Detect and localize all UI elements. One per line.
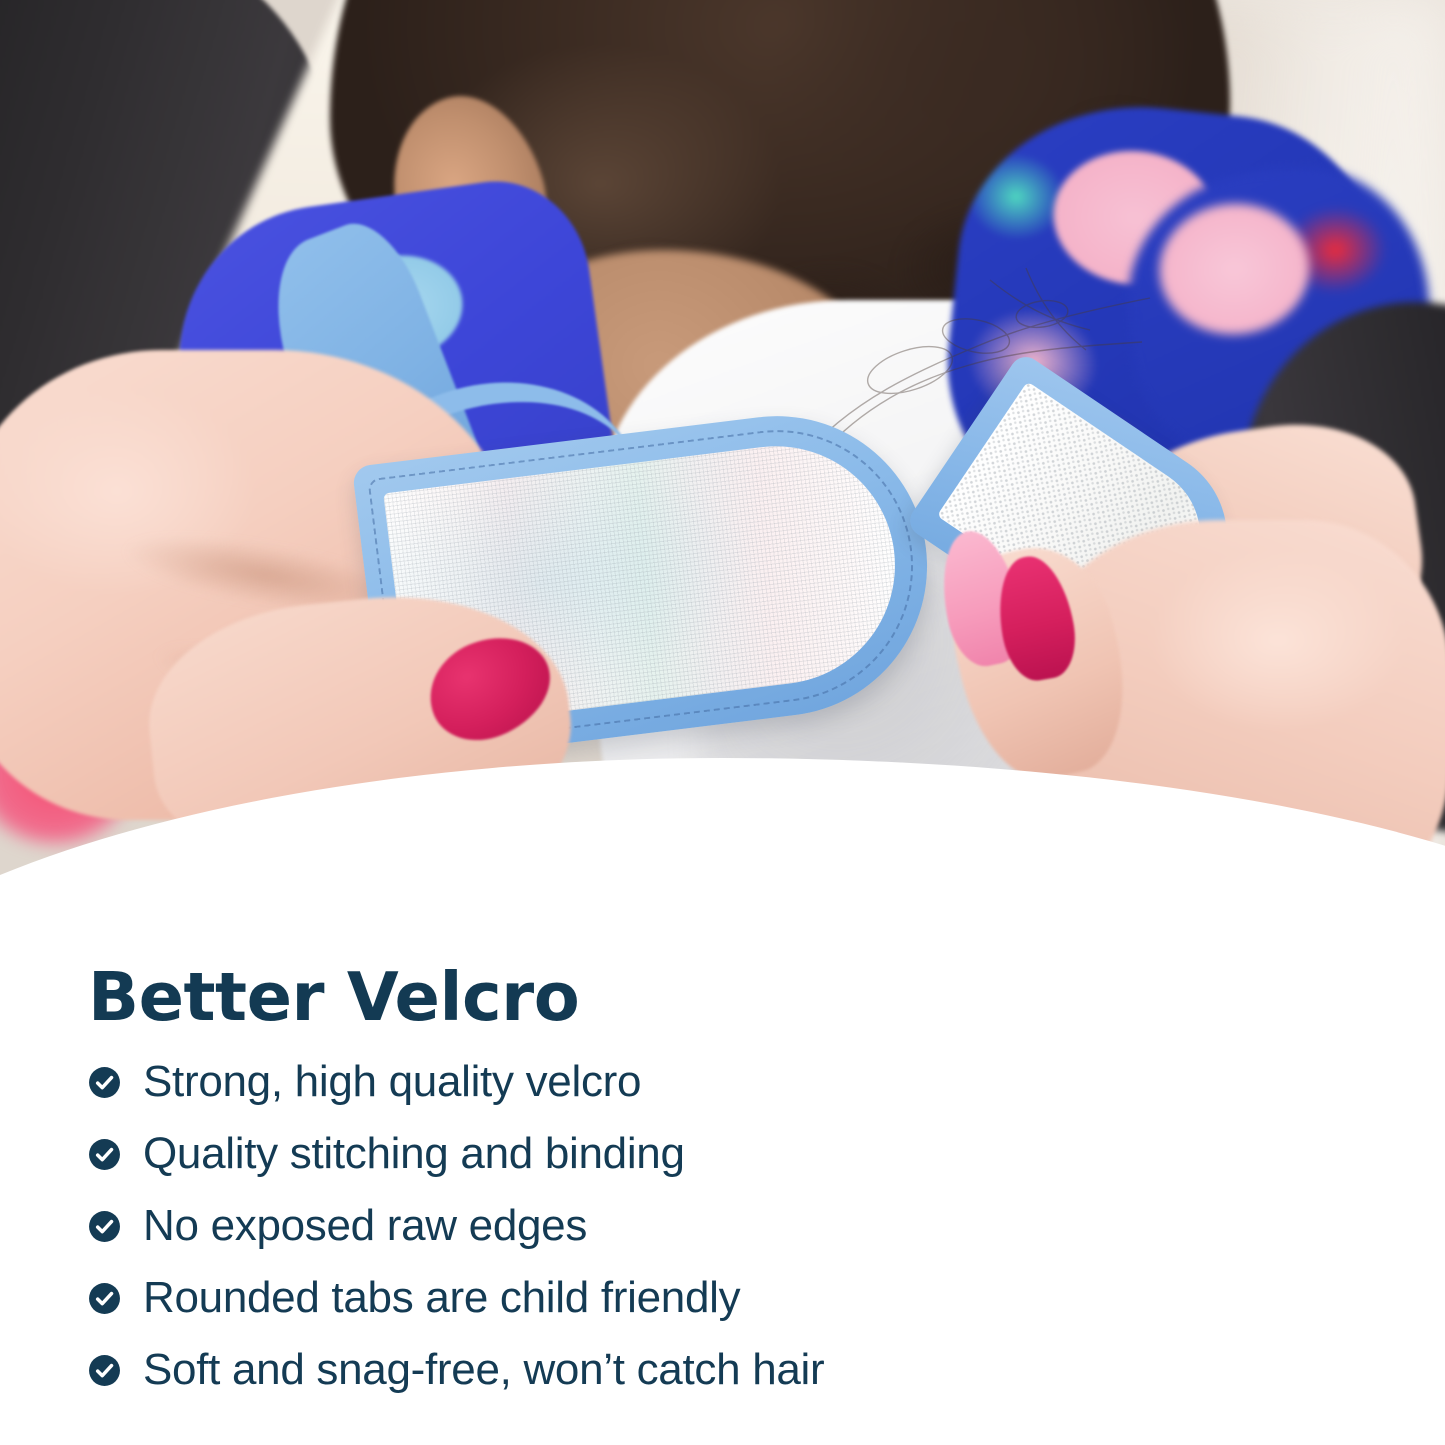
feature-content: Better Velcro Strong, high quality velcr… (88, 962, 1268, 1414)
product-feature-card: Better Velcro Strong, high quality velcr… (0, 0, 1445, 1445)
feature-label: No exposed raw edges (143, 1204, 587, 1248)
list-item: Strong, high quality velcro (88, 1054, 1268, 1110)
list-item: No exposed raw edges (88, 1198, 1268, 1254)
feature-list: Strong, high quality velcro Quality stit… (88, 1054, 1268, 1398)
feature-label: Soft and snag-free, won’t catch hair (143, 1348, 824, 1392)
feature-label: Quality stitching and binding (143, 1132, 685, 1176)
list-item: Soft and snag-free, won’t catch hair (88, 1342, 1268, 1398)
page-title: Better Velcro (88, 962, 1268, 1032)
feature-label: Rounded tabs are child friendly (143, 1276, 740, 1320)
list-item: Quality stitching and binding (88, 1126, 1268, 1182)
check-circle-icon (88, 1210, 121, 1243)
check-circle-icon (88, 1138, 121, 1171)
list-item: Rounded tabs are child friendly (88, 1270, 1268, 1326)
check-circle-icon (88, 1282, 121, 1315)
check-circle-icon (88, 1066, 121, 1099)
check-circle-icon (88, 1354, 121, 1387)
feature-label: Strong, high quality velcro (143, 1060, 641, 1104)
